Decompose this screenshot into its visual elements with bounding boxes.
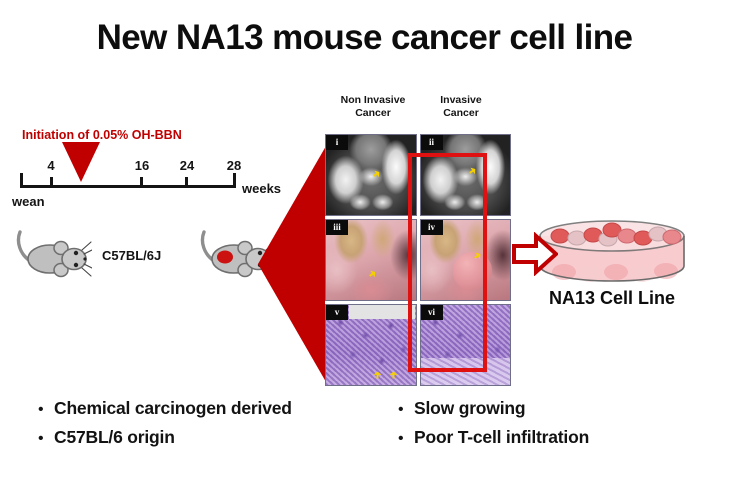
tumor-mass [453, 252, 492, 290]
image-panel-grid: i ii iii iv v vi [325, 134, 511, 386]
yellow-arrow-icon [374, 371, 382, 378]
bullet-marker: • [38, 402, 54, 418]
column-header-invasive: Invasive Cancer [411, 94, 511, 120]
column-header-non-invasive-line1: Non Invasive [323, 94, 423, 107]
timeline-tick-4 [50, 177, 53, 187]
column-header-non-invasive-line2: Cancer [323, 107, 423, 120]
yellow-arrow-icon [390, 371, 398, 378]
panel-ii[interactable]: ii [420, 134, 512, 216]
list-item: • Chemical carcinogen derived [38, 398, 388, 419]
cell-line-label: NA13 Cell Line [532, 288, 692, 309]
panel-tag-v: v [326, 305, 348, 320]
timeline-tick-24 [185, 177, 188, 187]
mouse-icon [14, 228, 92, 286]
bullet-text: Slow growing [414, 398, 525, 419]
panel-tag-vi: vi [421, 305, 443, 320]
timeline-wean-label: wean [12, 194, 45, 209]
timeline-tick-16 [140, 177, 143, 187]
panel-tag-i: i [326, 135, 348, 150]
timeline-caption: Initiation of 0.05% OH-BBN [22, 128, 182, 142]
timeline-label-28: 28 [227, 158, 241, 173]
bullet-text: C57BL/6 origin [54, 427, 175, 448]
column-header-invasive-line1: Invasive [411, 94, 511, 107]
panel-v[interactable]: v [325, 304, 417, 386]
mouse-strain-label: C57BL/6J [102, 248, 161, 263]
bullet-list-right: • Slow growing • Poor T-cell infiltratio… [398, 398, 718, 456]
timeline-axis-start-cap [20, 173, 23, 188]
bullet-text: Chemical carcinogen derived [54, 398, 292, 419]
bullet-marker: • [398, 431, 414, 447]
column-header-non-invasive: Non Invasive Cancer [323, 94, 423, 120]
bullet-text: Poor T-cell infiltration [414, 427, 589, 448]
timeline-label-24: 24 [180, 158, 194, 173]
yellow-arrow-icon [467, 166, 477, 177]
panel-iv[interactable]: iv [420, 219, 512, 301]
panel-tag-ii: ii [421, 135, 443, 150]
panel-vi-stroma-region [421, 358, 511, 385]
panel-tag-iii: iii [326, 220, 348, 235]
page-title: New NA13 mouse cancer cell line [0, 18, 729, 58]
list-item: • Slow growing [398, 398, 718, 419]
list-item: • C57BL/6 origin [38, 427, 388, 448]
timeline: Initiation of 0.05% OH-BBN 4 16 24 28 we… [0, 128, 300, 228]
panel-tag-iv: iv [421, 220, 443, 235]
panel-i[interactable]: i [325, 134, 417, 216]
down-triangle-icon [62, 142, 100, 182]
timeline-label-4: 4 [47, 158, 54, 173]
column-header-invasive-line2: Cancer [411, 107, 511, 120]
yellow-arrow-icon [371, 169, 381, 180]
timeline-axis-end-cap [233, 173, 236, 188]
magnification-wedge [258, 146, 326, 382]
bullet-marker: • [38, 431, 54, 447]
panel-vi[interactable]: vi [420, 304, 512, 386]
right-block-arrow-icon [512, 232, 558, 276]
bullet-list-left: • Chemical carcinogen derived • C57BL/6 … [38, 398, 388, 456]
list-item: • Poor T-cell infiltration [398, 427, 718, 448]
yellow-arrow-icon [367, 268, 377, 279]
panel-v-background-strip [349, 305, 415, 319]
timeline-label-16: 16 [135, 158, 149, 173]
panel-iii[interactable]: iii [325, 219, 417, 301]
bullet-marker: • [398, 402, 414, 418]
